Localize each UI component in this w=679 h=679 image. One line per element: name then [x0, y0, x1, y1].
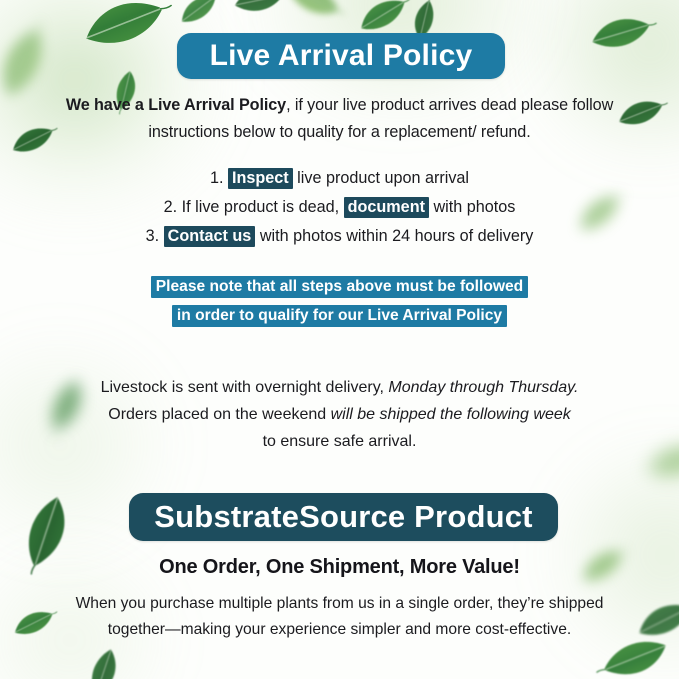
step-highlight: Contact us: [164, 226, 256, 247]
shipping-line-2-plain: Orders placed on the weekend: [108, 406, 330, 423]
shipping-line-2-italic: will be shipped the following week: [331, 406, 571, 423]
substratesource-body-paragraph: When you purchase multiple plants from u…: [60, 591, 619, 643]
substratesource-product-banner-label: SubstrateSource Product: [154, 499, 532, 535]
step-number: 3.: [146, 227, 160, 245]
outro-line: When you purchase multiple plants from u…: [60, 591, 619, 617]
live-arrival-policy-banner-label: Live Arrival Policy: [210, 39, 473, 73]
live-arrival-intro-bold: We have a Live Arrival Policy: [66, 96, 286, 114]
substratesource-product-banner: SubstrateSource Product: [129, 493, 558, 541]
step-highlight: Inspect: [228, 168, 293, 189]
livestock-shipping-paragraph: Livestock is sent with overnight deliver…: [60, 374, 619, 455]
shipping-line-1-plain: Livestock is sent with overnight deliver…: [101, 379, 389, 396]
step-number: 2.: [164, 198, 178, 216]
outro-line: together—making your experience simpler …: [60, 617, 619, 643]
note-line: in order to qualify for our Live Arrival…: [60, 301, 619, 330]
note-line: Please note that all steps above must be…: [60, 272, 619, 301]
step-text-after: live product upon arrival: [297, 169, 469, 187]
step-text-before: If live product is dead,: [182, 198, 339, 216]
infographic-page: Live Arrival Policy We have a Live Arriv…: [0, 0, 679, 679]
live-arrival-intro-paragraph: We have a Live Arrival Policy, if your l…: [60, 92, 619, 146]
shipping-line: Livestock is sent with overnight deliver…: [60, 374, 619, 401]
list-item: 1. Inspect live product upon arrival: [60, 164, 619, 193]
step-number: 1.: [210, 169, 224, 187]
list-item: 3. Contact us with photos within 24 hour…: [60, 222, 619, 251]
shipping-line: Orders placed on the weekend will be shi…: [60, 401, 619, 428]
live-arrival-policy-banner: Live Arrival Policy: [177, 33, 505, 79]
step-text-after: with photos: [433, 198, 515, 216]
shipping-line-1-italic: Monday through Thursday.: [388, 379, 578, 396]
note-line-1-text: Please note that all steps above must be…: [151, 276, 528, 298]
live-arrival-steps-list: 1. Inspect live product upon arrival 2. …: [60, 164, 619, 251]
content-layer: Live Arrival Policy We have a Live Arriv…: [0, 0, 679, 679]
list-item: 2. If live product is dead, document wit…: [60, 193, 619, 222]
shipping-line: to ensure safe arrival.: [60, 428, 619, 455]
step-text-after: with photos within 24 hours of delivery: [260, 227, 534, 245]
substratesource-subtitle: One Order, One Shipment, More Value!: [60, 556, 619, 579]
step-highlight: document: [344, 197, 429, 218]
note-line-2-text: in order to qualify for our Live Arrival…: [172, 305, 507, 327]
live-arrival-note-block: Please note that all steps above must be…: [60, 272, 619, 330]
shipping-line-3: to ensure safe arrival.: [263, 433, 417, 450]
